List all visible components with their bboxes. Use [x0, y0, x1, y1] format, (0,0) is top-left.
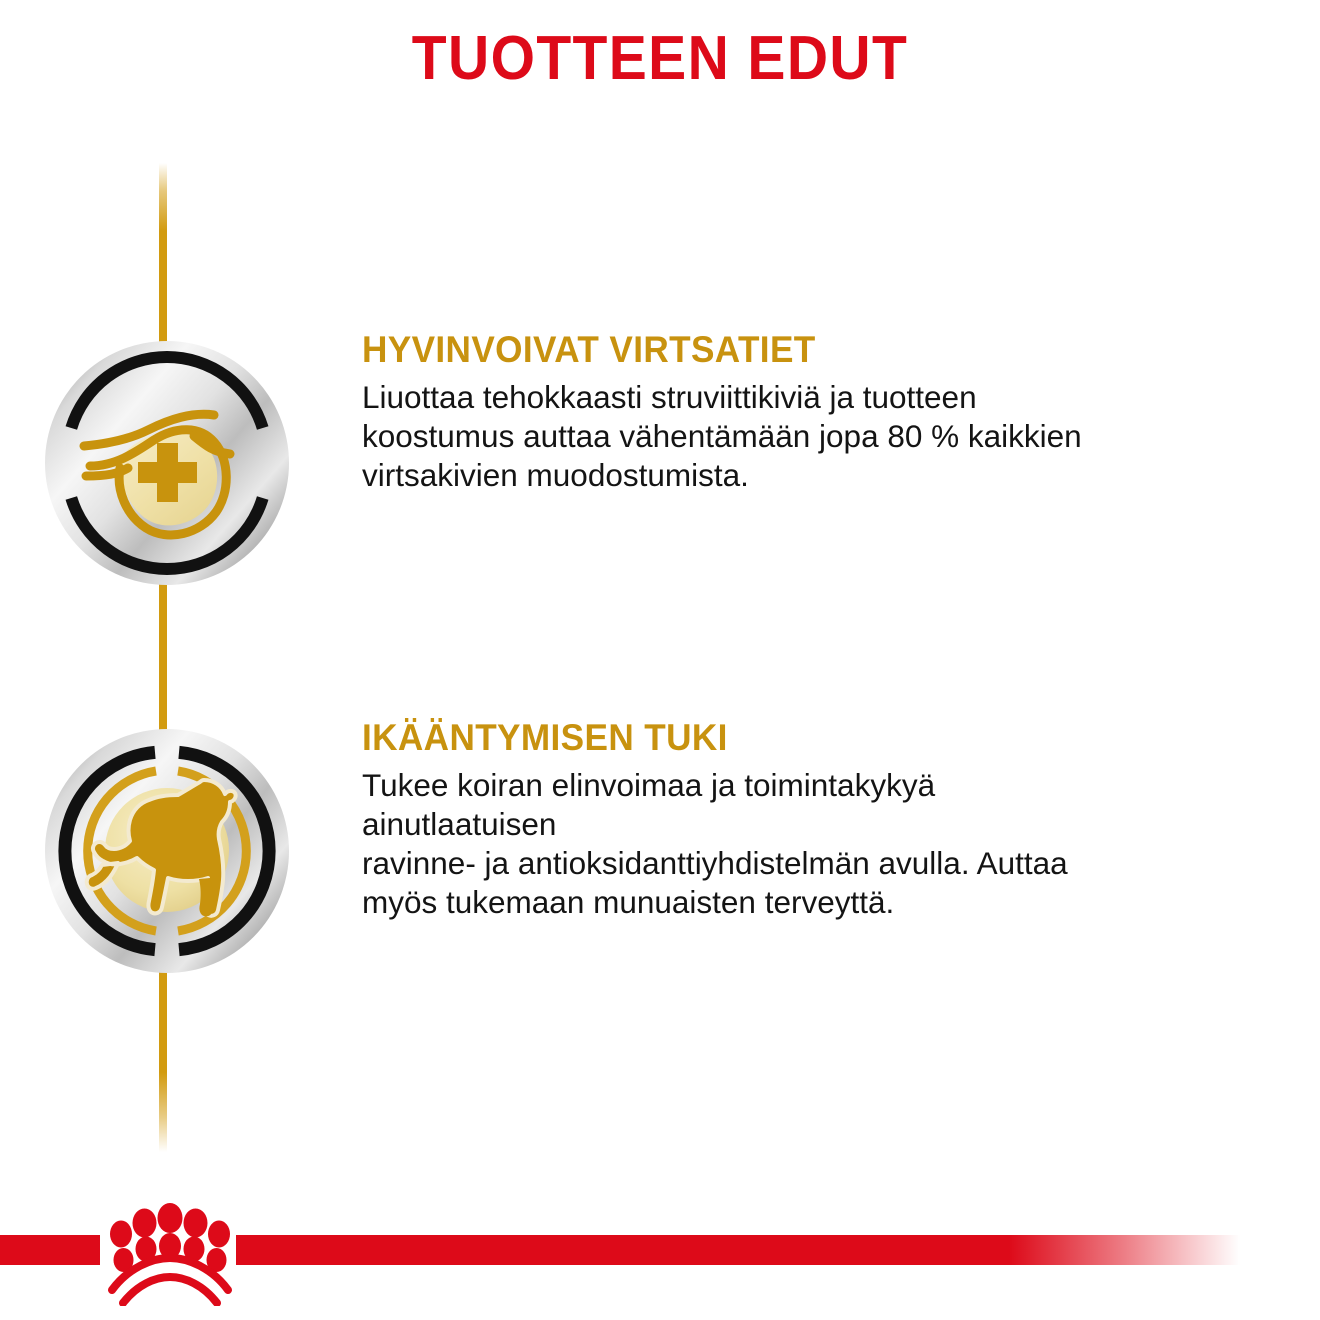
benefit-body-line: virtsakivien muodostumista. — [362, 456, 1272, 495]
benefit-text-block: HYVINVOIVAT VIRTSATIET Liuottaa tehokkaa… — [362, 330, 1272, 495]
benefit-body-line: Tukee koiran elinvoimaa ja toimintakykyä — [362, 766, 1272, 805]
dog-silhouette-vitality-icon — [44, 728, 290, 974]
benefit-body-line: koostumus auttaa vähentämään jopa 80 % k… — [362, 417, 1272, 456]
brand-accent-bar-right — [236, 1235, 1240, 1265]
brand-accent-bar-left — [0, 1235, 100, 1265]
benefit-text-block: IKÄÄNTYMISEN TUKI Tukee koiran elinvoima… — [362, 718, 1272, 922]
benefit-body-line: myös tukemaan munuaisten terveyttä. — [362, 883, 1272, 922]
benefit-heading: IKÄÄNTYMISEN TUKI — [362, 718, 1227, 758]
benefit-body: Tukee koiran elinvoimaa ja toimintakykyä… — [362, 766, 1272, 922]
benefit-body-line: Liuottaa tehokkaasti struviittikiviä ja … — [362, 378, 1272, 417]
benefit-body-line: ravinne- ja antioksidanttiyhdistelmän av… — [362, 844, 1272, 883]
benefit-body-line: ainutlaatuisen — [362, 805, 1272, 844]
page-title: TUOTTEEN EDUT — [53, 28, 1267, 90]
benefit-body: Liuottaa tehokkaasti struviittikiviä ja … — [362, 378, 1272, 495]
urinary-tract-bladder-plus-icon — [44, 340, 290, 586]
benefit-heading: HYVINVOIVAT VIRTSATIET — [362, 330, 1227, 370]
royal-canin-crown-logo — [96, 1202, 244, 1306]
vertical-timeline-line-top — [159, 163, 167, 363]
vertical-timeline-line-bottom — [159, 962, 167, 1152]
